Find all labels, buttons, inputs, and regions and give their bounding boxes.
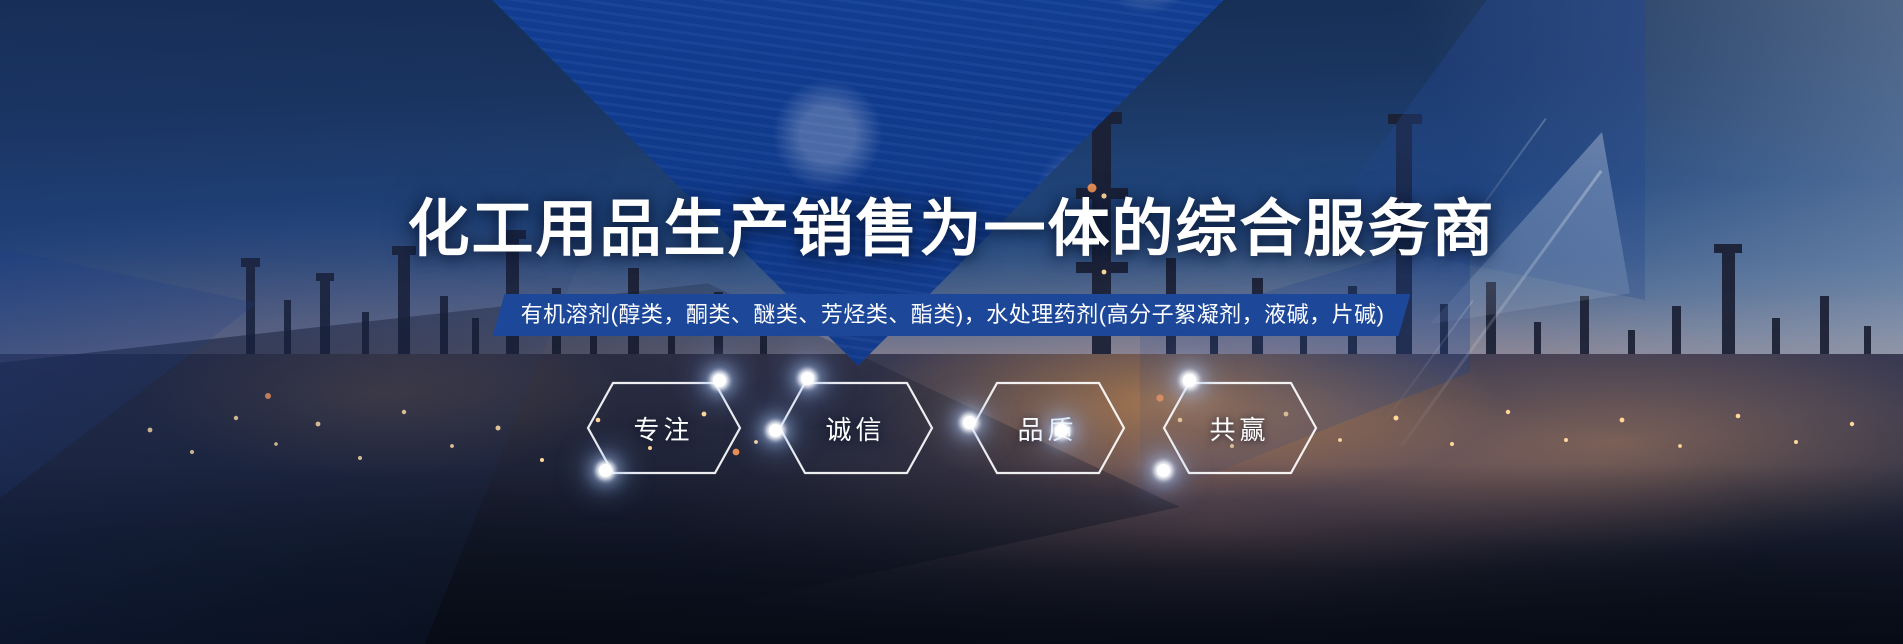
keyword-label: 共赢 — [1209, 410, 1269, 447]
keyword-badge-chengxin[interactable]: 诚信 — [777, 380, 935, 476]
glow-dot-icon — [963, 416, 976, 429]
keyword-label: 专注 — [633, 410, 693, 447]
keyword-badge-pinzhi[interactable]: 品质 — [969, 380, 1127, 476]
glow-dot-icon — [599, 464, 612, 477]
keyword-label: 品质 — [1017, 410, 1077, 447]
keyword-label: 诚信 — [825, 410, 885, 447]
glow-dot-icon — [801, 372, 814, 385]
glow-dot-icon — [713, 374, 726, 387]
hero-banner: 化工用品生产销售为一体的综合服务商 有机溶剂(醇类，酮类、醚类、芳烃类、酯类)，… — [0, 0, 1903, 644]
subtitle-text: 有机溶剂(醇类，酮类、醚类、芳烃类、酯类)，水处理药剂(高分子絮凝剂，液碱，片碱… — [493, 294, 1411, 336]
glow-dot-icon — [769, 424, 782, 437]
keyword-badge-row: 专注 诚信 品质 共赢 — [0, 380, 1903, 476]
glow-dot-icon — [1157, 464, 1170, 477]
keyword-badge-zhuanzhu[interactable]: 专注 — [585, 380, 743, 476]
subtitle-banner: 有机溶剂(醇类，酮类、醚类、芳烃类、酯类)，水处理药剂(高分子絮凝剂，液碱，片碱… — [0, 294, 1903, 336]
page-title: 化工用品生产销售为一体的综合服务商 — [0, 196, 1903, 264]
keyword-badge-gongying[interactable]: 共赢 — [1161, 380, 1319, 476]
glow-dot-icon — [1055, 424, 1068, 437]
glow-dot-icon — [1183, 374, 1196, 387]
